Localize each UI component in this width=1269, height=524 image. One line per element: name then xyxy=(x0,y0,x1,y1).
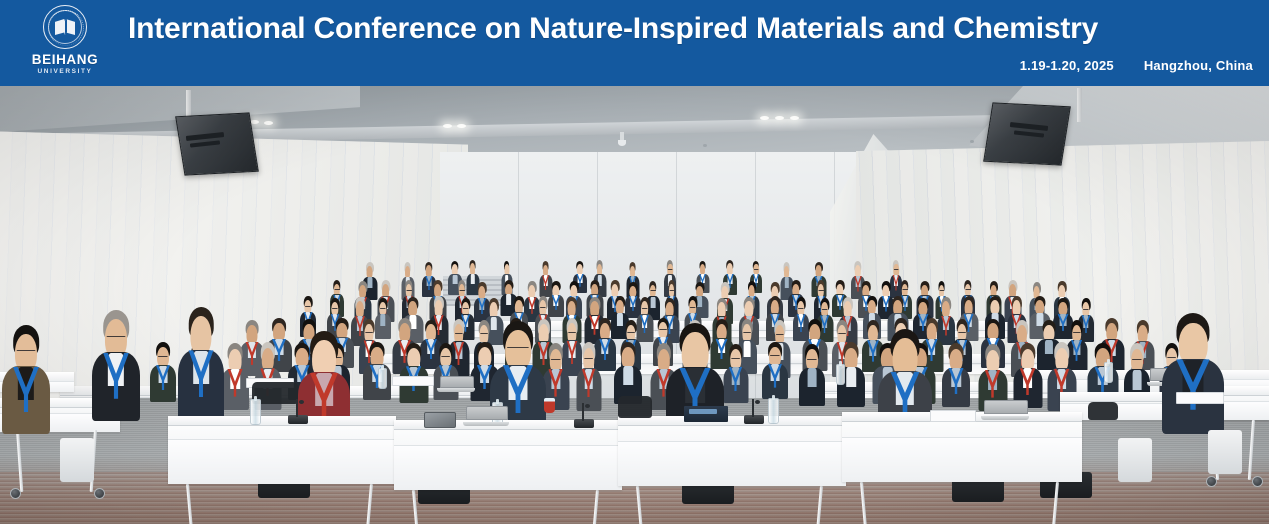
attendee-shirt xyxy=(380,314,385,326)
attendee-glasses xyxy=(743,332,751,335)
laptop-lid xyxy=(466,406,508,420)
mic-base xyxy=(574,419,594,428)
desk-modesty-panel xyxy=(168,439,396,484)
laptop-lid xyxy=(984,400,1028,414)
water-bottle xyxy=(1104,362,1113,383)
conference-title: International Conference on Nature-Inspi… xyxy=(128,12,1098,46)
desk-modesty-panel xyxy=(842,437,1082,482)
attendee-glasses xyxy=(894,269,899,272)
mic-capsule xyxy=(299,400,304,404)
attendee-glasses xyxy=(965,289,971,292)
logo-subtitle-text: UNIVERSITY xyxy=(37,69,92,76)
chair xyxy=(60,438,94,482)
laptop xyxy=(466,406,506,426)
ceiling-downlight xyxy=(760,116,769,120)
attendee-glasses xyxy=(454,333,462,336)
attendee-glasses xyxy=(480,333,488,336)
attendee-glasses xyxy=(332,308,338,311)
desk-caster xyxy=(1206,476,1217,487)
attendee-glasses xyxy=(584,358,594,361)
document-folder xyxy=(684,406,728,422)
attendee-glasses xyxy=(798,308,804,311)
paper-sheet xyxy=(392,376,434,386)
attendee-shirt xyxy=(623,366,633,384)
mic-base xyxy=(288,415,308,424)
attendee-shirt xyxy=(1133,370,1142,390)
coffee-cup xyxy=(544,398,555,413)
attendee-glasses xyxy=(107,336,126,339)
attendee-glasses xyxy=(550,359,561,362)
attendee xyxy=(178,308,224,420)
desk-top xyxy=(168,416,396,426)
table-microphone xyxy=(574,406,594,428)
head-table xyxy=(842,412,1082,482)
beihang-university-seal-icon xyxy=(43,5,87,49)
attendee-glasses xyxy=(507,347,529,350)
conference-meta: 1.19-1.20, 2025 Hangzhou, China xyxy=(1020,58,1253,73)
monitor-mount-pole xyxy=(1077,88,1082,122)
attendee-glasses xyxy=(568,332,576,335)
chair xyxy=(1118,438,1152,482)
attendee-glasses xyxy=(17,350,36,353)
conference-banner-photo-page: BEIHANG UNIVERSITY International Confere… xyxy=(0,0,1269,524)
ceiling-sprinkler xyxy=(970,140,974,143)
attendee-glasses xyxy=(939,290,944,293)
table-microphone xyxy=(288,402,308,424)
attendee-glasses xyxy=(305,306,311,309)
attendee-glasses xyxy=(838,333,846,336)
attendee-glasses xyxy=(1132,359,1142,362)
attendee-glasses xyxy=(441,356,451,359)
conference-dates: 1.19-1.20, 2025 xyxy=(1020,58,1114,73)
attendee xyxy=(1162,314,1224,434)
head-table xyxy=(618,416,846,486)
attendee xyxy=(942,344,970,407)
attendee-glasses xyxy=(818,290,824,293)
desk-caster xyxy=(1252,476,1263,487)
attendee-glasses xyxy=(754,269,759,272)
attendee-glasses xyxy=(380,308,386,311)
attendee xyxy=(723,345,748,403)
attendee xyxy=(150,343,176,402)
ceiling-dome-camera-icon xyxy=(618,132,626,146)
mic-base xyxy=(744,415,764,424)
attendee-glasses xyxy=(334,289,340,292)
water-bottle xyxy=(768,398,779,424)
laptop-lid xyxy=(440,376,474,388)
attendee-glasses xyxy=(459,290,465,293)
laptop-base xyxy=(981,416,1030,420)
seal-emblem-glyph xyxy=(55,19,75,35)
paper-sheet xyxy=(1176,392,1224,404)
conference-banner: BEIHANG UNIVERSITY International Confere… xyxy=(0,0,1269,86)
attendee-shirt xyxy=(846,367,856,386)
ceiling-monitor-right xyxy=(988,88,1098,174)
attendee-glasses xyxy=(540,307,546,310)
attendee xyxy=(762,343,788,399)
conference-location: Hangzhou, China xyxy=(1144,58,1253,73)
ceiling-monitor-left xyxy=(168,90,278,176)
mic-capsule xyxy=(585,404,590,408)
mic-neck xyxy=(296,399,298,416)
attendee-glasses xyxy=(406,290,412,293)
logo-name-text: BEIHANG xyxy=(32,53,98,67)
beihang-university-logo: BEIHANG UNIVERSITY xyxy=(26,4,104,82)
attendee-glasses xyxy=(807,359,817,362)
attendee-glasses xyxy=(770,355,780,358)
attendee-glasses xyxy=(821,309,828,312)
attendee-glasses xyxy=(627,332,635,335)
head-table xyxy=(168,416,396,484)
attendee-glasses xyxy=(641,308,648,311)
attendee-glasses xyxy=(1072,332,1080,335)
attendee xyxy=(576,343,601,411)
attendee xyxy=(221,344,249,410)
attendee xyxy=(2,326,50,434)
chair xyxy=(1208,430,1242,474)
attendee-glasses xyxy=(775,334,783,337)
conference-group-photo xyxy=(0,86,1269,524)
attendee-glasses xyxy=(689,307,696,310)
water-bottle xyxy=(836,364,845,385)
attendee-glasses xyxy=(158,356,168,359)
laptop-base xyxy=(437,388,474,392)
attendee-glasses xyxy=(958,332,966,335)
equipment-bag xyxy=(1088,402,1118,420)
attendee-glasses xyxy=(650,290,656,293)
ceiling-downlight xyxy=(790,116,799,120)
attendee-glasses xyxy=(1083,309,1089,312)
laptop xyxy=(440,376,472,392)
paper-sheet xyxy=(930,410,976,422)
equipment-bag xyxy=(618,396,652,418)
head-table xyxy=(394,420,622,490)
table-microphone xyxy=(744,402,764,424)
tablet-device xyxy=(424,412,456,428)
ceiling-downlight xyxy=(775,116,784,120)
attendee xyxy=(614,343,642,404)
mic-capsule xyxy=(755,400,760,404)
ceiling-downlight xyxy=(457,124,466,128)
desk-top xyxy=(618,416,846,426)
laptop-base xyxy=(463,422,509,426)
ceiling-sprinkler xyxy=(703,144,707,147)
attendee xyxy=(799,345,825,406)
attendee xyxy=(399,344,428,403)
desk-modesty-panel xyxy=(618,441,846,486)
attendee xyxy=(1013,344,1042,408)
attendee-shirt xyxy=(808,368,817,386)
mic-neck xyxy=(752,399,754,416)
mic-neck xyxy=(582,403,584,420)
water-bottle xyxy=(378,368,387,389)
desk-modesty-panel xyxy=(394,445,622,490)
attendee-glasses xyxy=(669,290,674,293)
attendee-glasses xyxy=(668,269,673,272)
attendee xyxy=(92,311,140,421)
attendee-glasses xyxy=(731,358,741,361)
water-bottle xyxy=(250,399,261,425)
attendee-glasses xyxy=(902,289,908,292)
attendee-glasses xyxy=(462,308,469,311)
attendee-glasses xyxy=(365,332,373,335)
laptop xyxy=(984,400,1026,420)
desk-caster xyxy=(94,488,105,499)
ceiling-downlight xyxy=(443,124,452,128)
desk-caster xyxy=(10,488,21,499)
